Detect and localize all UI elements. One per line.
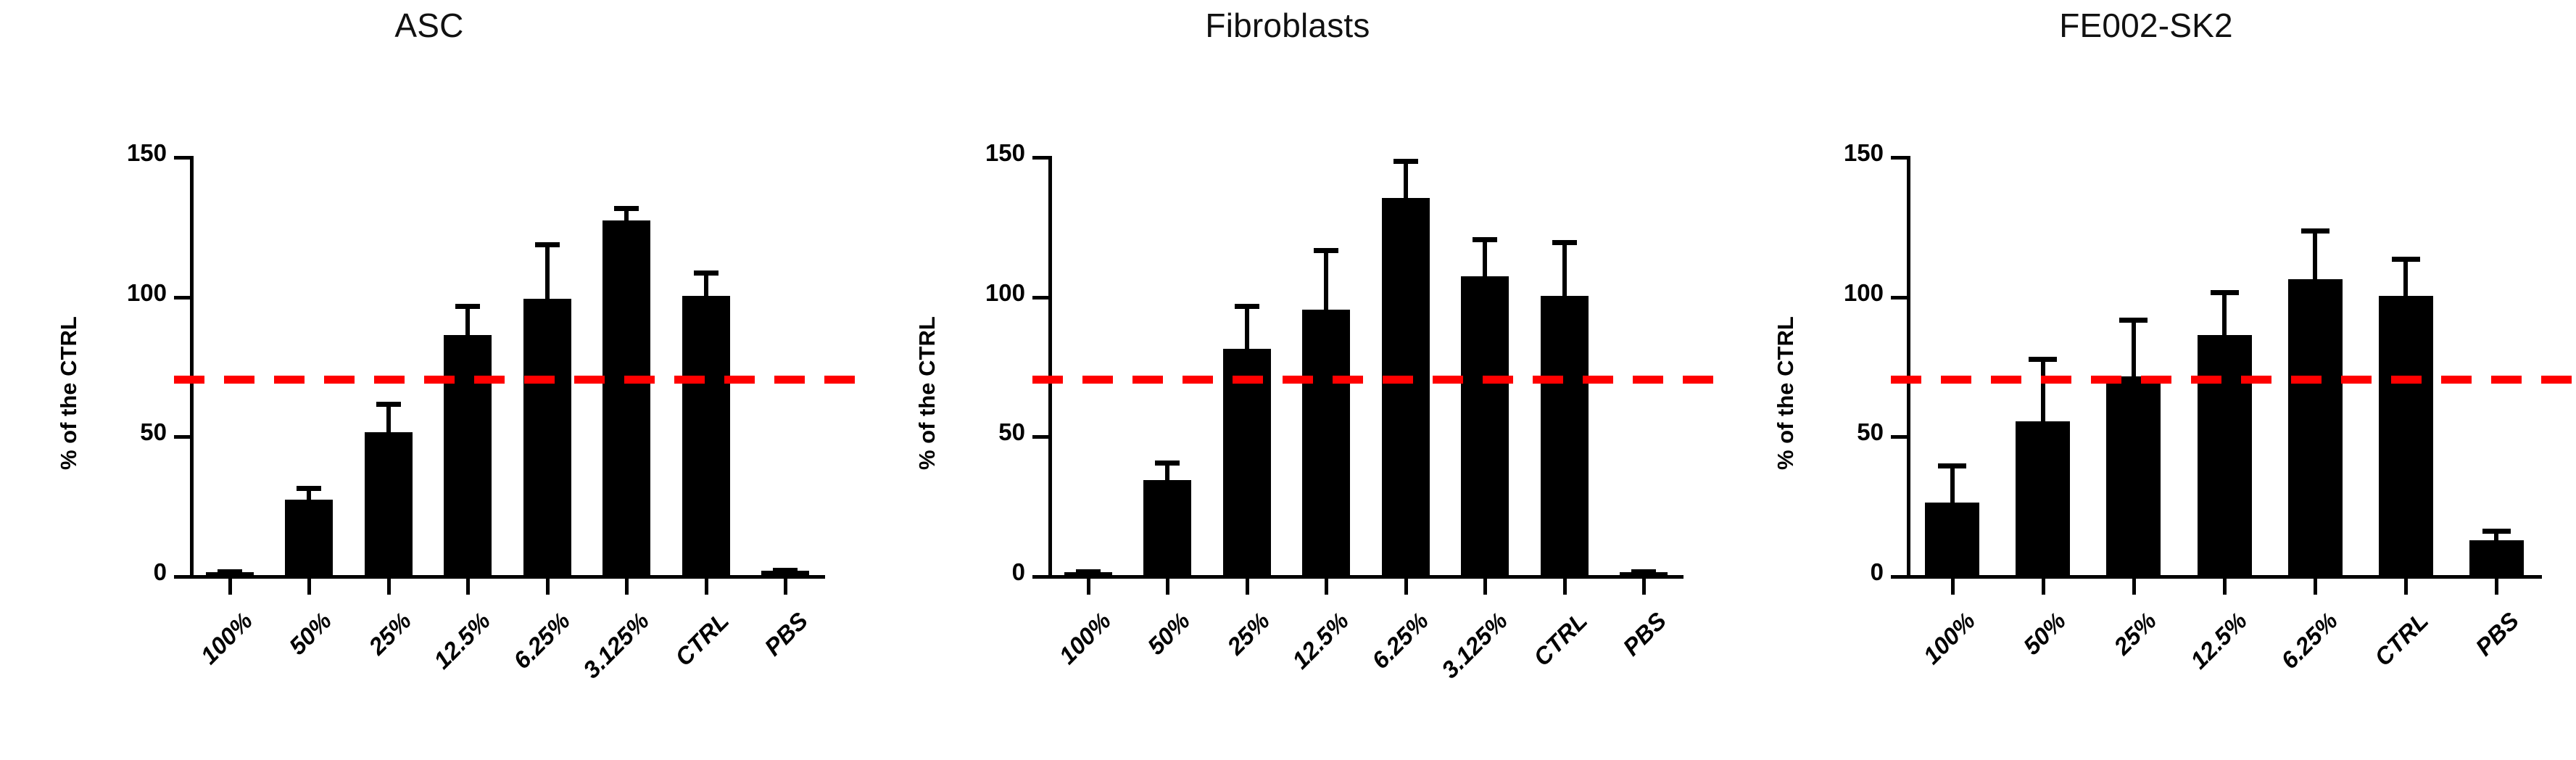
x-tick-mark [1563, 579, 1567, 595]
threshold-dash [1991, 376, 2021, 384]
bar [682, 296, 730, 575]
error-bar-cap [1155, 460, 1180, 466]
x-tick-label: 25% [264, 607, 417, 760]
threshold-dash [324, 376, 355, 384]
x-tick-mark [307, 579, 311, 595]
error-bar-stem [1324, 248, 1328, 310]
error-bar-cap [1076, 569, 1101, 574]
bar [285, 500, 333, 575]
error-bar-cap [297, 486, 321, 491]
error-bar-cap [2482, 529, 2511, 534]
y-tick-mark [1891, 575, 1907, 579]
y-axis-label: % of the CTRL [1773, 316, 1799, 470]
x-tick-mark [2314, 579, 2317, 595]
x-tick-mark [466, 579, 470, 595]
x-axis-spine [190, 575, 825, 579]
x-tick-mark [1087, 579, 1090, 595]
x-tick-mark [228, 579, 232, 595]
figure-root: ASC% of the CTRL050100150100%50%25%12.5%… [0, 0, 2576, 720]
error-bar-cap [694, 270, 718, 276]
threshold-dash [1383, 376, 1413, 384]
x-tick-mark [784, 579, 787, 595]
y-tick-mark [174, 435, 190, 439]
x-tick-mark [546, 579, 550, 595]
threshold-dash [2491, 376, 2522, 384]
x-tick-mark [1166, 579, 1169, 595]
x-tick-mark [2042, 579, 2045, 595]
threshold-dash [1583, 376, 1613, 384]
error-bar-cap [218, 569, 242, 574]
x-tick-label: PBS [660, 607, 813, 760]
y-tick-label: 100 [45, 279, 167, 307]
y-tick-label: 0 [45, 558, 167, 586]
bar [2106, 376, 2161, 575]
bar [2198, 335, 2252, 575]
error-bar-stem [1950, 463, 1955, 503]
bar [1461, 276, 1509, 575]
y-tick-mark [1891, 156, 1907, 160]
error-bar-stem [545, 242, 550, 298]
threshold-dash [1433, 376, 1463, 384]
x-tick-mark [1483, 579, 1487, 595]
y-tick-label: 50 [903, 418, 1025, 446]
error-bar-cap [773, 568, 798, 573]
threshold-dash [674, 376, 705, 384]
x-tick-mark [1951, 579, 1955, 595]
bar [602, 220, 650, 575]
threshold-dash [474, 376, 505, 384]
error-bar-cap [535, 242, 560, 247]
x-tick-label: 12.5% [343, 607, 496, 760]
y-tick-label: 100 [903, 279, 1025, 307]
error-bar-cap [2392, 257, 2420, 262]
threshold-dash [1941, 376, 1971, 384]
y-tick-mark [1891, 296, 1907, 300]
threshold-dash [174, 376, 204, 384]
threshold-dash [424, 376, 455, 384]
chart-panel-3: FE002-SK2% of the CTRL050100150100%50%25… [1717, 0, 2575, 720]
threshold-line [1032, 376, 1715, 384]
y-tick-label: 150 [1762, 139, 1884, 167]
x-tick-mark [387, 579, 391, 595]
y-tick-mark [174, 156, 190, 160]
error-bar-cap [2119, 318, 2148, 323]
error-bar-stem [1562, 240, 1567, 296]
error-bar-cap [2211, 290, 2239, 295]
threshold-dash [2041, 376, 2071, 384]
x-tick-label: 6.25% [1281, 607, 1434, 760]
x-tick-label: 100% [964, 607, 1117, 760]
chart-panel-2: Fibroblasts% of the CTRL050100150100%50%… [858, 0, 1717, 720]
y-tick-mark [1032, 296, 1048, 300]
y-tick-mark [174, 296, 190, 300]
threshold-dash [1891, 376, 1921, 384]
error-bar-cap [1393, 159, 1418, 164]
y-tick-label: 150 [903, 139, 1025, 167]
y-tick-label: 50 [1762, 418, 1884, 446]
panel-title: FE002-SK2 [1717, 6, 2575, 45]
panel-title: Fibroblasts [858, 6, 1717, 45]
threshold-dash [224, 376, 254, 384]
threshold-dash [1683, 376, 1713, 384]
threshold-dash [1233, 376, 1263, 384]
threshold-dash [2541, 376, 2572, 384]
threshold-dash [824, 376, 855, 384]
error-bar-cap [2029, 357, 2057, 362]
x-tick-mark [1246, 579, 1249, 595]
y-axis-spine [190, 156, 194, 579]
bar [1143, 480, 1191, 575]
threshold-dash [774, 376, 805, 384]
error-bar-cap [1473, 237, 1497, 242]
y-axis-label: % of the CTRL [914, 316, 940, 470]
y-tick-label: 50 [45, 418, 167, 446]
threshold-dash [374, 376, 405, 384]
threshold-dash [724, 376, 755, 384]
x-tick-mark [2223, 579, 2227, 595]
x-tick-mark [1325, 579, 1328, 595]
y-tick-mark [174, 575, 190, 579]
bar [1302, 310, 1350, 575]
x-tick-label: 50% [1043, 607, 1196, 760]
threshold-dash [574, 376, 605, 384]
threshold-dash [1333, 376, 1363, 384]
bar [2469, 540, 2524, 575]
y-tick-label: 0 [1762, 558, 1884, 586]
threshold-line [174, 376, 857, 384]
x-tick-label: 25% [1122, 607, 1275, 760]
error-bar-cap [1235, 304, 1259, 309]
x-tick-label: PBS [1519, 607, 1672, 760]
threshold-dash [1483, 376, 1513, 384]
threshold-dash [1032, 376, 1063, 384]
error-bar-cap [1552, 240, 1577, 245]
x-tick-label: CTRL [1440, 607, 1593, 760]
error-bar-stem [1245, 304, 1249, 349]
y-tick-label: 150 [45, 139, 167, 167]
error-bar-cap [1314, 248, 1338, 253]
threshold-dash [1183, 376, 1213, 384]
x-tick-label: CTRL [581, 607, 734, 760]
y-tick-mark [1032, 156, 1048, 160]
error-bar-stem [2132, 318, 2136, 376]
y-tick-label: 0 [903, 558, 1025, 586]
error-bar-stem [1483, 237, 1487, 276]
threshold-dash [1533, 376, 1563, 384]
x-tick-label: 3.125% [502, 607, 655, 760]
error-bar-cap [1631, 569, 1656, 574]
x-tick-mark [705, 579, 708, 595]
bar [2016, 421, 2070, 575]
error-bar-stem [2403, 257, 2408, 296]
bar [2288, 279, 2343, 575]
x-axis-spine [1048, 575, 1683, 579]
threshold-dash [2191, 376, 2221, 384]
threshold-line [1891, 376, 2574, 384]
y-axis-spine [1048, 156, 1052, 579]
panel-title: ASC [0, 6, 858, 45]
x-tick-mark [1404, 579, 1408, 595]
x-tick-label: 50% [184, 607, 337, 760]
y-tick-mark [1891, 435, 1907, 439]
threshold-dash [1132, 376, 1163, 384]
bar [523, 299, 571, 575]
error-bar-stem [2041, 357, 2045, 421]
bar [365, 432, 413, 575]
threshold-dash [2341, 376, 2372, 384]
x-tick-mark [1642, 579, 1646, 595]
x-tick-label: 3.125% [1360, 607, 1513, 760]
error-bar-cap [614, 206, 639, 211]
x-tick-mark [2495, 579, 2498, 595]
error-bar-cap [376, 402, 401, 407]
threshold-dash [1633, 376, 1663, 384]
threshold-dash [274, 376, 305, 384]
error-bar-stem [1404, 159, 1408, 198]
x-tick-label: 6.25% [423, 607, 576, 760]
chart-panel-1: ASC% of the CTRL050100150100%50%25%12.5%… [0, 0, 858, 720]
bar [1541, 296, 1589, 575]
y-tick-mark [1032, 435, 1048, 439]
bar [1925, 503, 1979, 575]
bar [2379, 296, 2433, 575]
threshold-dash [524, 376, 555, 384]
threshold-dash [2241, 376, 2271, 384]
threshold-dash [2091, 376, 2121, 384]
x-tick-mark [625, 579, 629, 595]
threshold-dash [2141, 376, 2171, 384]
threshold-dash [2291, 376, 2322, 384]
error-bar-cap [2301, 228, 2329, 234]
y-tick-mark [1032, 575, 1048, 579]
y-tick-label: 100 [1762, 279, 1884, 307]
bar [1382, 198, 1430, 575]
x-tick-label: 100% [105, 607, 258, 760]
error-bar-stem [2222, 290, 2227, 335]
threshold-dash [624, 376, 655, 384]
x-tick-label: 12.5% [1201, 607, 1354, 760]
threshold-dash [1283, 376, 1313, 384]
threshold-dash [2391, 376, 2422, 384]
y-axis-spine [1907, 156, 1910, 579]
threshold-dash [1082, 376, 1113, 384]
threshold-dash [2441, 376, 2472, 384]
error-bar-stem [2313, 228, 2317, 278]
bar [444, 335, 492, 575]
y-axis-label: % of the CTRL [56, 316, 82, 470]
error-bar-cap [1938, 463, 1966, 468]
x-tick-mark [2404, 579, 2408, 595]
error-bar-cap [455, 304, 480, 309]
x-tick-mark [2132, 579, 2136, 595]
